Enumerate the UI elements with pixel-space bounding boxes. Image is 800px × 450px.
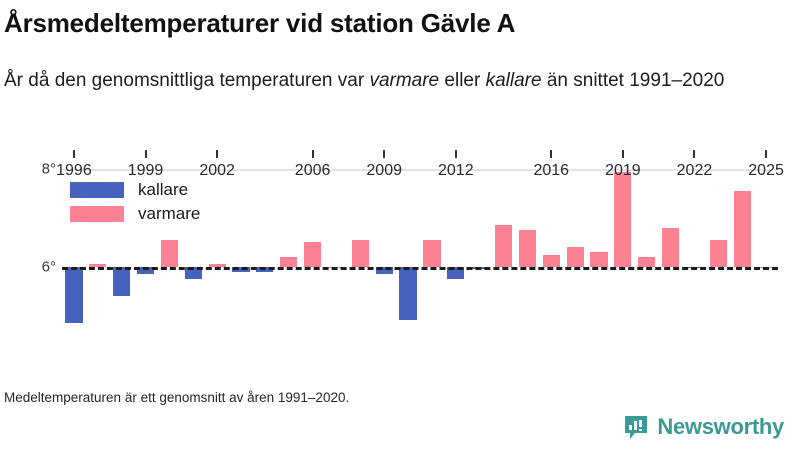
x-tick-mark-2019: [622, 150, 624, 158]
bar-2020[interactable]: [638, 257, 655, 267]
subtitle-text-2: eller: [439, 70, 485, 91]
x-tick-mark-1999: [145, 150, 147, 158]
y-tick-label-8: 8°: [42, 161, 56, 178]
subtitle-text-3: än snittet 1991–2020: [542, 70, 725, 91]
brand-name: Newsworthy: [657, 414, 784, 440]
baseline-reference-line: [62, 267, 778, 270]
bar-2006[interactable]: [304, 242, 321, 266]
x-tick-mark-2006: [312, 150, 314, 158]
x-tick-label-2022: 2022: [677, 162, 713, 180]
page-subtitle: År då den genomsnittliga temperaturen va…: [4, 66, 784, 95]
bar-2010[interactable]: [399, 267, 416, 320]
bar-2011[interactable]: [423, 240, 440, 267]
x-tick-label-2002: 2002: [199, 162, 235, 180]
legend-label-varmare: varmare: [138, 204, 200, 224]
x-tick-label-2012: 2012: [438, 162, 474, 180]
bar-2000[interactable]: [161, 240, 178, 267]
x-tick-label-2025: 2025: [748, 162, 784, 180]
x-tick-label-1999: 1999: [128, 162, 164, 180]
bar-2005[interactable]: [280, 257, 297, 267]
x-tick-mark-2012: [455, 150, 457, 158]
brand-logo[interactable]: Newsworthy: [623, 414, 784, 440]
bar-1996[interactable]: [65, 267, 82, 323]
subtitle-emphasis-colder: kallare: [486, 70, 542, 91]
x-tick-mark-2002: [216, 150, 218, 158]
legend-label-kallare: kallare: [138, 180, 188, 200]
chart-legend: kallare varmare: [70, 180, 200, 228]
x-tick-label-2009: 2009: [366, 162, 402, 180]
x-tick-label-1996: 1996: [56, 162, 92, 180]
x-tick-label-2006: 2006: [295, 162, 331, 180]
x-tick-mark-1996: [73, 150, 75, 158]
x-tick-mark-2025: [765, 150, 767, 158]
bar-2021[interactable]: [662, 228, 679, 267]
bar-2017[interactable]: [567, 247, 584, 266]
x-tick-mark-2016: [550, 150, 552, 158]
page-title: Årsmedeltemperaturer vid station Gävle A: [4, 8, 515, 39]
bar-2008[interactable]: [352, 240, 369, 267]
bar-2018[interactable]: [590, 252, 607, 267]
x-tick-mark-2009: [383, 150, 385, 158]
bar-2014[interactable]: [495, 225, 512, 266]
bar-2015[interactable]: [519, 230, 536, 266]
bar-2023[interactable]: [710, 240, 727, 267]
legend-item-varmare[interactable]: varmare: [70, 204, 200, 224]
x-tick-mark-2022: [693, 150, 695, 158]
y-tick-label-6: 6°: [42, 258, 56, 275]
x-tick-label-2019: 2019: [605, 162, 641, 180]
chart-page: Årsmedeltemperaturer vid station Gävle A…: [0, 0, 800, 450]
x-tick-label-2016: 2016: [533, 162, 569, 180]
legend-item-kallare[interactable]: kallare: [70, 180, 200, 200]
legend-swatch-varmare: [70, 206, 124, 222]
bar-1998[interactable]: [113, 267, 130, 296]
subtitle-text-1: År då den genomsnittliga temperaturen va…: [4, 70, 369, 91]
chart-footnote: Medeltemperaturen är ett genomsnitt av å…: [4, 390, 349, 405]
bar-chart-speech-bubble-icon: [623, 414, 649, 440]
bar-2016[interactable]: [543, 255, 560, 267]
subtitle-emphasis-warmer: varmare: [369, 70, 439, 91]
legend-swatch-kallare: [70, 182, 124, 198]
